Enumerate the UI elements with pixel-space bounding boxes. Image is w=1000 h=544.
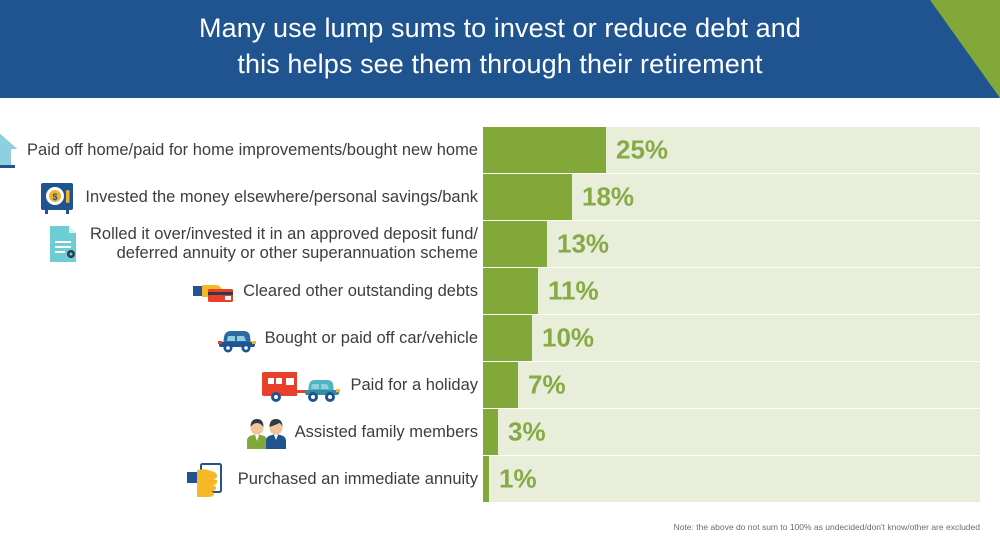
row-label-group: Bought or paid off car/vehicle (214, 315, 478, 361)
bar-value-label: 11% (548, 276, 599, 307)
bar-track: 1% (483, 456, 980, 502)
table-row: Rolled it over/invested it in an approve… (0, 221, 1000, 267)
row-label-group: Assisted family members (244, 409, 478, 455)
row-label: Cleared other outstanding debts (243, 282, 478, 301)
bar-value-label: 7% (528, 370, 566, 401)
car-icon (214, 315, 260, 361)
row-label-line: Assisted family members (295, 423, 478, 442)
row-label: Rolled it over/invested it in an approve… (90, 225, 478, 263)
bar-fill (483, 127, 606, 173)
hand-document-icon (187, 456, 233, 502)
table-row: Cleared other outstanding debts 11% (0, 268, 1000, 314)
row-label-line: Purchased an immediate annuity (238, 470, 478, 489)
row-label-group: Paid off home/paid for home improvements… (0, 127, 478, 173)
bar-fill (483, 456, 489, 502)
house-icon (0, 127, 22, 173)
bar-fill (483, 315, 532, 361)
header-banner: Many use lump sums to invest or reduce d… (0, 0, 1000, 98)
row-label: Assisted family members (295, 423, 478, 442)
row-label-line: Bought or paid off car/vehicle (265, 329, 478, 348)
table-row: Bought or paid off car/vehicle 10% (0, 315, 1000, 361)
row-label-group: Paid for a holiday (260, 362, 479, 408)
row-label-group: Cleared other outstanding debts (192, 268, 478, 314)
row-label-line: deferred annuity or other superannuation… (90, 244, 478, 263)
row-label-line: Paid off home/paid for home improvements… (27, 141, 478, 160)
bar-value-label: 3% (508, 417, 546, 448)
bar-track: 18% (483, 174, 980, 220)
two-people-icon (244, 409, 290, 455)
safe-icon: $ (34, 174, 80, 220)
row-label-line: Paid for a holiday (351, 376, 479, 395)
row-label-group: Rolled it over/invested it in an approve… (39, 221, 478, 267)
row-label-line: Rolled it over/invested it in an approve… (90, 225, 478, 244)
caravan-car-icon (260, 362, 346, 408)
page-title: Many use lump sums to invest or reduce d… (0, 10, 1000, 82)
row-label-line: Invested the money elsewhere/personal sa… (85, 188, 478, 207)
credit-card-hand-icon (192, 268, 238, 314)
table-row: $ Invested the money elsewhere/personal … (0, 174, 1000, 220)
bar-value-label: 10% (542, 323, 594, 354)
bar-track: 25% (483, 127, 980, 173)
corner-accent-triangle (930, 0, 1000, 98)
bar-value-label: 18% (582, 182, 634, 213)
row-label-line: Cleared other outstanding debts (243, 282, 478, 301)
bar-track: 3% (483, 409, 980, 455)
bar-track: 10% (483, 315, 980, 361)
svg-text:$: $ (53, 192, 58, 202)
document-icon (39, 221, 85, 267)
bar-track: 13% (483, 221, 980, 267)
table-row: Assisted family members 3% (0, 409, 1000, 455)
table-row: Paid off home/paid for home improvements… (0, 127, 1000, 173)
row-label-group: Purchased an immediate annuity (187, 456, 478, 502)
bar-chart: Paid off home/paid for home improvements… (0, 104, 1000, 504)
bar-fill (483, 268, 538, 314)
row-label: Paid for a holiday (351, 376, 479, 395)
bar-fill (483, 409, 498, 455)
bar-track: 11% (483, 268, 980, 314)
row-label-group: $ Invested the money elsewhere/personal … (34, 174, 478, 220)
bar-fill (483, 362, 518, 408)
row-label: Purchased an immediate annuity (238, 470, 478, 489)
page-title-line-2: this helps see them through their retire… (0, 46, 1000, 82)
bar-track: 7% (483, 362, 980, 408)
bar-fill (483, 221, 547, 267)
page-title-line-1: Many use lump sums to invest or reduce d… (0, 10, 1000, 46)
row-label: Invested the money elsewhere/personal sa… (85, 188, 478, 207)
table-row: Purchased an immediate annuity 1% (0, 456, 1000, 502)
table-row: Paid for a holiday 7% (0, 362, 1000, 408)
bar-fill (483, 174, 572, 220)
row-label: Paid off home/paid for home improvements… (27, 141, 478, 160)
row-label: Bought or paid off car/vehicle (265, 329, 478, 348)
bar-value-label: 1% (499, 464, 537, 495)
bar-value-label: 25% (616, 135, 668, 166)
footnote: Note: the above do not sum to 100% as un… (674, 522, 980, 532)
bar-value-label: 13% (557, 229, 609, 260)
